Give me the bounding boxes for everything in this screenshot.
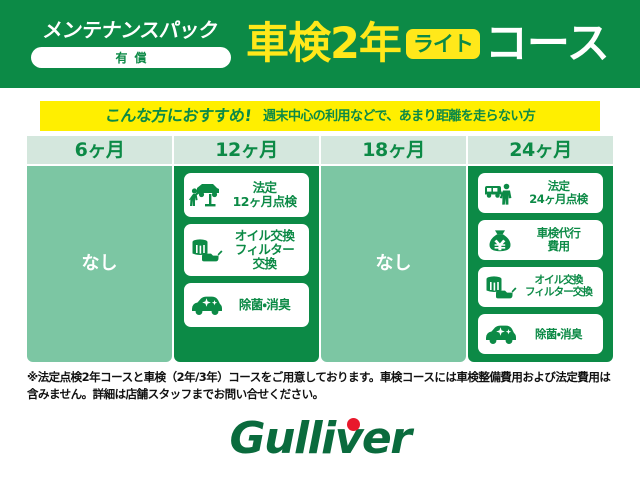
car-sanitize-icon — [482, 319, 518, 349]
maintenance-pack-title: メンテナンスパック — [42, 20, 220, 40]
course-main-title: 車検2年 — [246, 23, 401, 66]
no-service-label: なし — [376, 255, 412, 273]
coverage-table: 6ヶ月 なし 12ヶ月 — [27, 136, 613, 362]
oil-filter-change-icon — [482, 272, 518, 302]
table-column-6months: 6ヶ月 なし — [27, 136, 172, 362]
service-item[interactable]: 法定24ヶ月点検 — [478, 173, 603, 213]
column-header-6months: 6ヶ月 — [27, 136, 172, 164]
service-item-label: 車検代行費用 — [518, 227, 599, 253]
logo-text: Gulliver — [230, 413, 411, 464]
course-suffix-title: コース — [485, 23, 609, 66]
logo-red-dot-icon — [347, 418, 360, 431]
paid-badge-label: 有償 — [108, 52, 153, 64]
recommendation-bar: こんな方におすすめ! 週末中心の利用などで、あまり距離を走らない方 — [40, 101, 600, 131]
light-badge: ライト — [406, 29, 480, 59]
recommendation-heading: こんな方におすすめ! — [104, 108, 252, 124]
car-inspector-icon — [482, 178, 518, 208]
table-column-18months: 18ヶ月 なし — [321, 136, 466, 362]
header-banner: メンテナンスパック 有償 車検2年 ライト コース — [0, 0, 640, 88]
service-item-label: 除菌・消臭 — [224, 298, 305, 312]
table-column-12months: 12ヶ月 — [174, 136, 319, 362]
service-item-label: オイル交換フィルター交換 — [224, 229, 305, 271]
money-bag-yen-icon — [482, 225, 518, 255]
recommendation-description: 週末中心の利用などで、あまり距離を走らない方 — [263, 110, 535, 123]
service-item-label: 法定24ヶ月点検 — [518, 180, 599, 206]
column-body-12months: 法定12ヶ月点検 — [174, 166, 319, 362]
gulliver-logo: Gulliver — [0, 412, 640, 466]
oil-filter-change-icon — [188, 235, 224, 265]
banner-left-group: メンテナンスパック 有償 — [20, 20, 242, 68]
column-body-18months: なし — [321, 166, 466, 362]
logo-wrap: Gulliver — [230, 417, 411, 461]
column-header-label: 6ヶ月 — [75, 141, 125, 160]
column-header-label: 18ヶ月 — [362, 141, 424, 160]
no-service-label: なし — [82, 255, 118, 273]
service-item[interactable]: 除菌・消臭 — [184, 283, 309, 327]
service-item[interactable]: オイル交換フィルター交換 — [478, 267, 603, 307]
car-sanitize-icon — [188, 290, 224, 320]
column-header-24months: 24ヶ月 — [468, 136, 613, 164]
service-item-label: 法定12ヶ月点検 — [224, 181, 305, 209]
service-item-label: オイル交換フィルター交換 — [518, 275, 599, 299]
light-badge-label: ライト — [413, 34, 473, 55]
maintenance-pack-page: メンテナンスパック 有償 車検2年 ライト コース こんな方におすすめ! 週末中… — [0, 0, 640, 480]
column-header-label: 24ヶ月 — [509, 141, 571, 160]
service-item[interactable]: 車検代行費用 — [478, 220, 603, 260]
service-item[interactable]: オイル交換フィルター交換 — [184, 224, 309, 276]
service-item-label: 除菌・消臭 — [518, 328, 599, 341]
service-item[interactable]: 除菌・消臭 — [478, 314, 603, 354]
footnote-text: ※法定点検2年コースと車検（2年/3年）コースをご用意しております。車検コースに… — [27, 369, 617, 402]
column-header-12months: 12ヶ月 — [174, 136, 319, 164]
column-body-24months: 法定24ヶ月点検 車検代行費用 — [468, 166, 613, 362]
service-item[interactable]: 法定12ヶ月点検 — [184, 173, 309, 217]
banner-right-group: 車検2年 ライト コース — [246, 23, 640, 66]
column-body-6months: なし — [27, 166, 172, 362]
paid-badge: 有償 — [31, 47, 231, 68]
car-lift-inspection-icon — [188, 180, 224, 210]
column-header-18months: 18ヶ月 — [321, 136, 466, 164]
column-header-label: 12ヶ月 — [215, 141, 277, 160]
table-column-24months: 24ヶ月 — [468, 136, 613, 362]
